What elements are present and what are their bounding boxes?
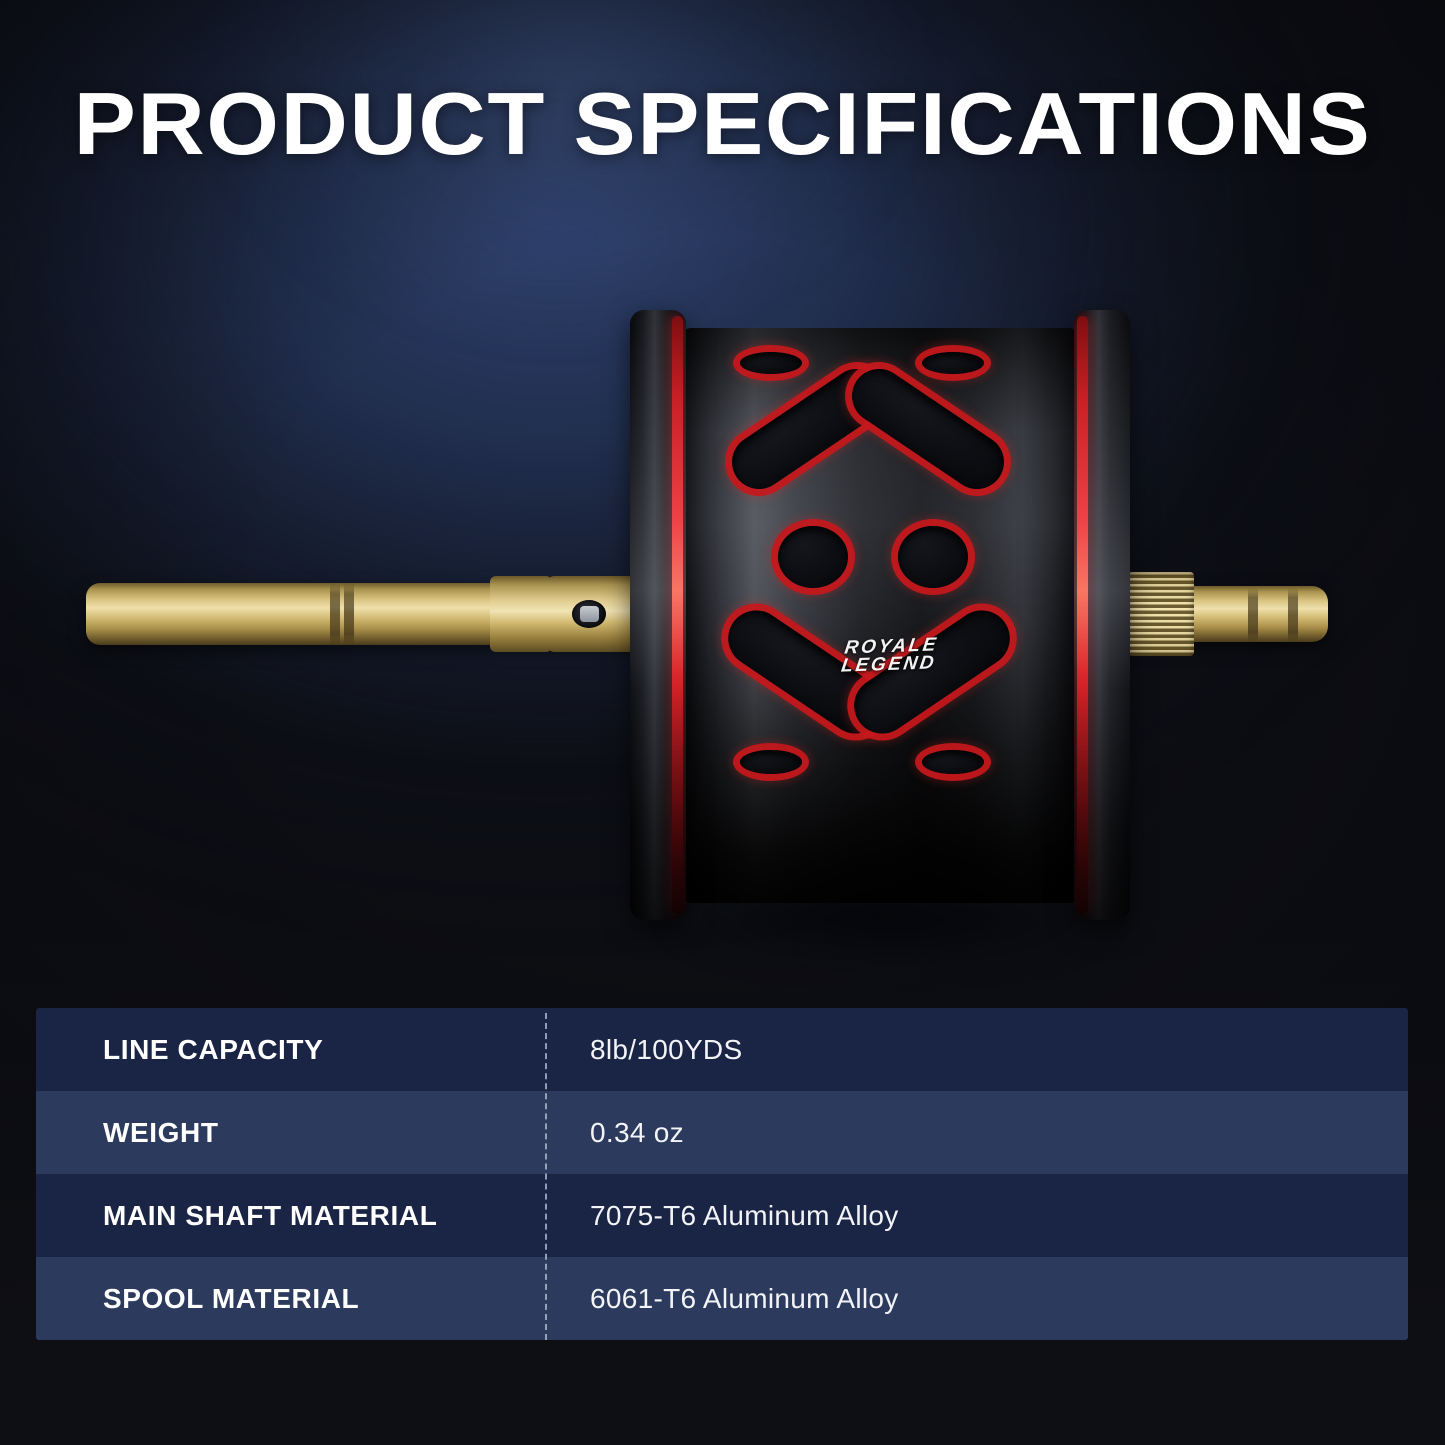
spool-port-bottom-right — [922, 750, 984, 774]
product-specifications-page: PRODUCT SPECIFICATIONS — [0, 0, 1445, 1445]
spec-value: 7075-T6 Aluminum Alloy — [545, 1200, 1408, 1232]
brand-logo: ROYALE LEGEND — [802, 635, 978, 677]
specification-table: LINE CAPACITY 8lb/100YDS WEIGHT 0.34 oz … — [36, 1008, 1408, 1340]
spool-flange-left — [630, 310, 686, 920]
table-row: SPOOL MATERIAL 6061-T6 Aluminum Alloy — [36, 1257, 1408, 1340]
table-column-divider — [545, 1013, 547, 1340]
spec-label: MAIN SHAFT MATERIAL — [36, 1200, 545, 1232]
table-row: WEIGHT 0.34 oz — [36, 1091, 1408, 1174]
spool-port-bottom-left — [740, 750, 802, 774]
table-row: MAIN SHAFT MATERIAL 7075-T6 Aluminum All… — [36, 1174, 1408, 1257]
spec-value: 0.34 oz — [545, 1117, 1408, 1149]
shaft-pin-detail — [572, 600, 606, 628]
shaft-step-left-outer — [490, 576, 552, 652]
spec-label: SPOOL MATERIAL — [36, 1283, 545, 1315]
spool-port-top-right — [922, 352, 984, 374]
spool-hole-mid-left — [778, 526, 848, 588]
spool-hole-mid-right — [898, 526, 968, 588]
shaft-spline-gear — [1128, 572, 1194, 656]
spec-label: LINE CAPACITY — [36, 1034, 545, 1066]
spool-port-top-left — [740, 352, 802, 374]
shaft-groove-3 — [1248, 588, 1258, 642]
table-row: LINE CAPACITY 8lb/100YDS — [36, 1008, 1408, 1091]
spec-label: WEIGHT — [36, 1117, 545, 1149]
spool-assembly: ROYALE LEGEND — [630, 310, 1130, 920]
shaft-groove-1 — [330, 583, 340, 645]
product-image: ROYALE LEGEND — [0, 250, 1445, 990]
spec-value: 6061-T6 Aluminum Alloy — [545, 1283, 1408, 1315]
page-title: PRODUCT SPECIFICATIONS — [0, 78, 1445, 170]
spec-value: 8lb/100YDS — [545, 1034, 1408, 1066]
shaft-groove-4 — [1288, 588, 1298, 642]
shaft-groove-2 — [344, 583, 354, 645]
spool-flange-right — [1074, 310, 1130, 920]
